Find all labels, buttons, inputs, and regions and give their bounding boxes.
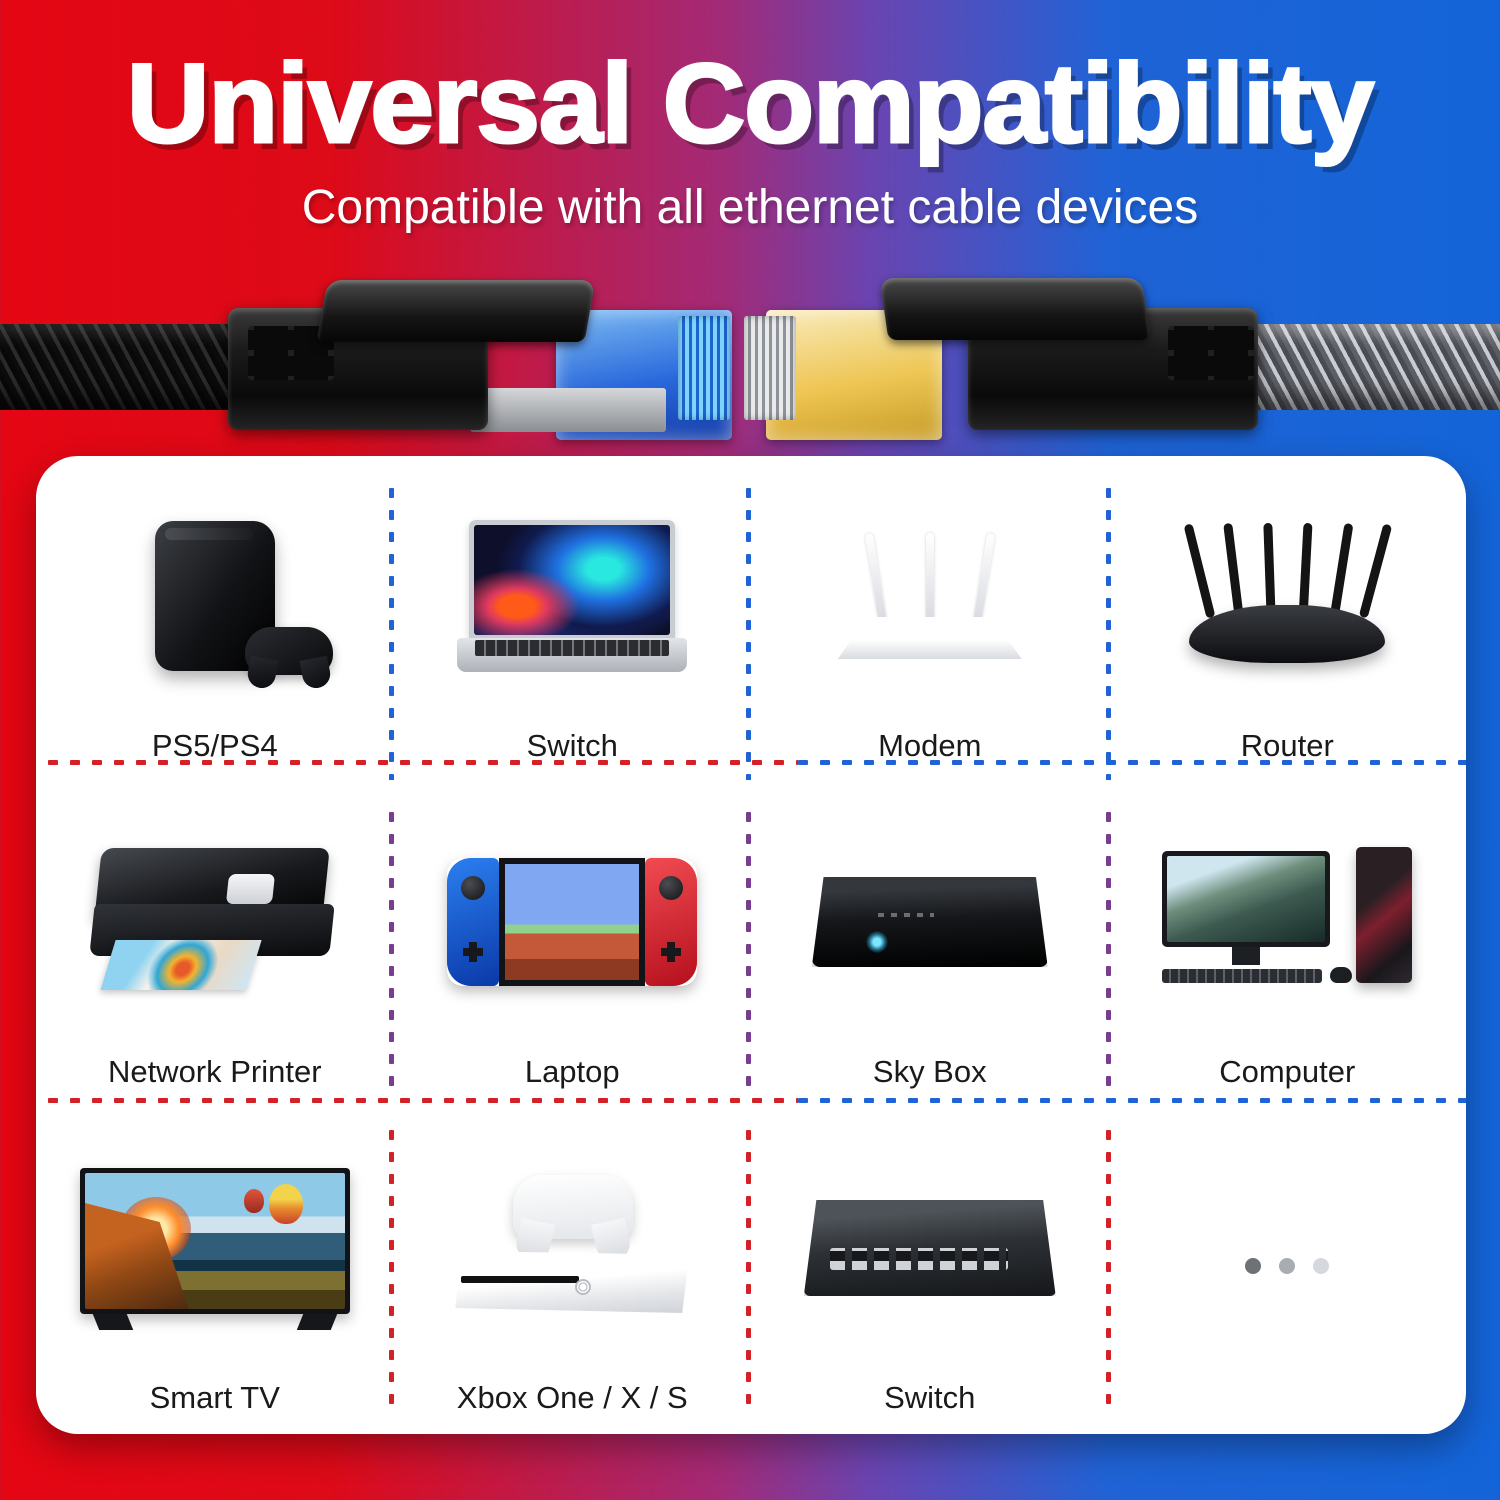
silver-braided-cable (1240, 324, 1500, 410)
grid-cell-modem[interactable]: Modem (751, 456, 1109, 782)
divider-horizontal-1-left (42, 760, 798, 765)
cell-label: Laptop (525, 1048, 620, 1090)
television-icon (44, 1122, 386, 1374)
divider-vertical-r1c2 (746, 482, 751, 780)
grid-cell-network-printer[interactable]: Network Printer (36, 782, 394, 1108)
rj45-clip-guard-right (880, 278, 1151, 340)
rj45-contacts-gold (744, 316, 796, 420)
divider-vertical-r2c3 (1106, 806, 1111, 1096)
cell-label: PS5/PS4 (152, 722, 278, 764)
boot-vent-right-icon (1168, 326, 1254, 380)
grid-cell-computer[interactable]: Computer (1109, 782, 1467, 1108)
network-switch-icon (759, 1122, 1101, 1374)
grid-cell-ps5-ps4[interactable]: PS5/PS4 (36, 456, 394, 782)
grid-cell-smart-tv[interactable]: Smart TV (36, 1108, 394, 1434)
compatibility-card: PS5/PS4 Switch Modem (36, 456, 1466, 1434)
cell-label: Router (1241, 722, 1334, 764)
printer-icon (44, 796, 386, 1048)
page-subtitle: Compatible with all ethernet cable devic… (0, 160, 1500, 235)
divider-vertical-r2c2 (746, 806, 751, 1096)
laptop-icon (402, 470, 744, 722)
grid-cell-router[interactable]: Router (1109, 456, 1467, 782)
playstation-console-icon (44, 470, 386, 722)
cell-label: Computer (1219, 1048, 1355, 1090)
grid-cell-xbox[interactable]: Xbox One / X / S (394, 1108, 752, 1434)
grid-cell-more[interactable] (1109, 1108, 1467, 1434)
cell-label: Modem (878, 722, 981, 764)
divider-vertical-r1c3 (1106, 482, 1111, 780)
cell-label: Sky Box (873, 1048, 987, 1090)
divider-horizontal-2-left (42, 1098, 798, 1103)
divider-vertical-r1c1 (389, 482, 394, 780)
ethernet-cable-illustration (0, 268, 1500, 473)
divider-horizontal-1-right (792, 760, 1466, 765)
rj45-clip-guard-left (317, 280, 596, 342)
cell-label: Switch (884, 1374, 975, 1416)
header-banner: Universal Compatibility Compatible with … (0, 0, 1500, 250)
grid-cell-switch-top[interactable]: Switch (394, 456, 752, 782)
page-title-text: Universal Compatibility (127, 48, 1373, 160)
rj45-contacts-blue (678, 316, 730, 420)
divider-horizontal-2-right (792, 1098, 1466, 1103)
divider-vertical-r3c1 (389, 1124, 394, 1410)
modem-icon (759, 470, 1101, 722)
divider-vertical-r3c3 (1106, 1124, 1111, 1410)
handheld-console-icon (402, 796, 744, 1048)
cell-label: Switch (527, 722, 618, 764)
rj45-shield-left (470, 388, 666, 432)
set-top-box-icon (759, 796, 1101, 1048)
more-dots-icon (1117, 1122, 1459, 1410)
grid-cell-laptop[interactable]: Laptop (394, 782, 752, 1108)
router-icon (1117, 470, 1459, 722)
desktop-computer-icon (1117, 796, 1459, 1048)
divider-vertical-r3c2 (746, 1124, 751, 1410)
divider-vertical-r2c1 (389, 806, 394, 1096)
xbox-console-icon (402, 1122, 744, 1374)
page-title: Universal Compatibility (0, 0, 1500, 160)
grid-cell-switch-bottom[interactable]: Switch (751, 1108, 1109, 1434)
cell-label: Network Printer (108, 1048, 322, 1090)
cell-label: Xbox One / X / S (457, 1374, 688, 1416)
cell-label: Smart TV (150, 1374, 280, 1416)
black-braided-cable (0, 324, 250, 410)
device-grid: PS5/PS4 Switch Modem (36, 456, 1466, 1434)
grid-cell-sky-box[interactable]: Sky Box (751, 782, 1109, 1108)
